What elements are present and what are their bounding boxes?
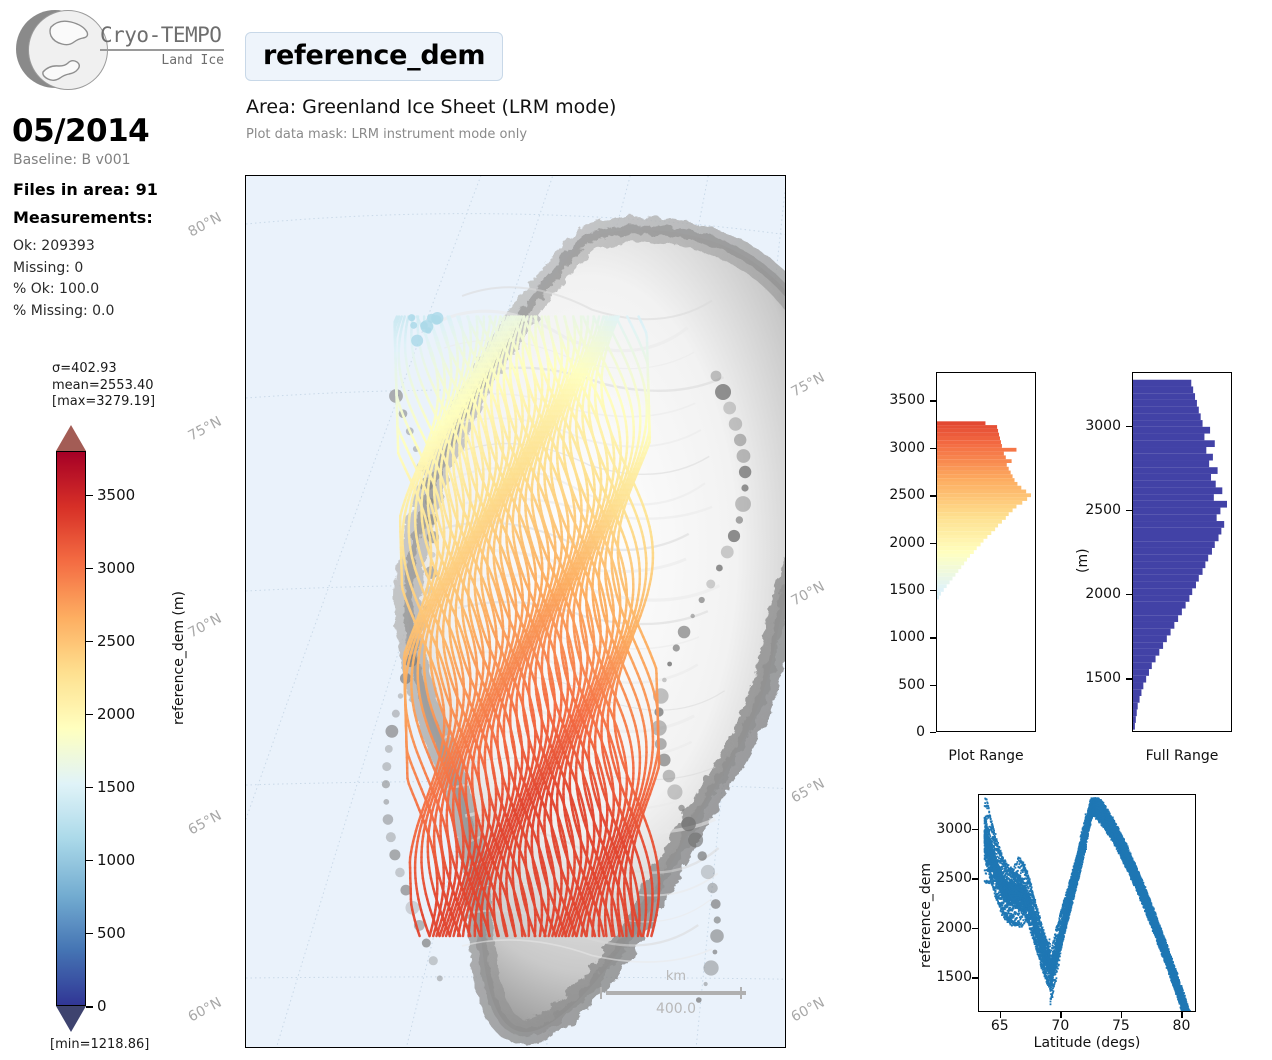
colorbar-tick-label: 0 xyxy=(97,997,107,1015)
measurement-pct-ok: % Ok: 100.0 xyxy=(13,279,114,301)
globe-icon xyxy=(14,8,98,92)
measurements-list: Ok: 209393 Missing: 0 % Ok: 100.0 % Miss… xyxy=(13,236,114,322)
scatter-ylabel: reference_dem xyxy=(918,863,934,968)
map-lat-label: 65°N xyxy=(789,776,828,807)
colorbar-min: [min=1218.86] xyxy=(50,1037,149,1052)
axis-tick xyxy=(930,732,936,733)
measurement-missing: Missing: 0 xyxy=(13,258,114,280)
logo-subtitle: Land Ice xyxy=(100,53,224,68)
colorbar-tick xyxy=(86,1006,93,1008)
variable-badge[interactable]: reference_dem xyxy=(245,32,503,81)
map-lat-label: 80°N xyxy=(186,210,225,241)
axis-tick-label: 65 xyxy=(975,1018,1025,1034)
axis-tick xyxy=(1060,1012,1061,1018)
colorbar-tick xyxy=(86,568,93,570)
colorbar-gradient xyxy=(56,451,86,1006)
map-lat-label: 70°N xyxy=(789,579,828,610)
map-lat-label: 75°N xyxy=(186,414,225,445)
latitude-scatter-plot xyxy=(978,794,1196,1012)
axis-tick-label: 2000 xyxy=(930,920,972,936)
colorbar-tick-label: 2500 xyxy=(97,632,135,650)
full-range-histogram xyxy=(1132,372,1232,732)
colorbar-tick-label: 3000 xyxy=(97,559,135,577)
colorbar-axis-label: reference_dem (m) xyxy=(171,591,187,725)
map-ground-tracks xyxy=(246,176,786,1048)
colorbar-max: [max=3279.19] xyxy=(52,394,155,411)
axis-tick-label: 3000 xyxy=(930,821,972,837)
date-label: 05/2014 xyxy=(12,113,149,149)
colorbar-tick-label: 3500 xyxy=(97,486,135,504)
colorbar-tick xyxy=(86,495,93,497)
area-title: Area: Greenland Ice Sheet (LRM mode) xyxy=(246,96,616,118)
logo-divider xyxy=(100,49,224,51)
scalebar-line xyxy=(606,991,746,995)
colorbar-stats: σ=402.93 mean=2553.40 [max=3279.19] xyxy=(52,361,155,411)
scatter-xlabel: Latitude (degs) xyxy=(987,1035,1187,1051)
map-panel[interactable]: km 400.0 xyxy=(245,175,786,1048)
axis-tick xyxy=(1181,1012,1182,1018)
axis-tick-label: 2500 xyxy=(930,870,972,886)
axis-tick-label: 75 xyxy=(1096,1018,1146,1034)
colorbar-tick xyxy=(86,933,93,935)
scalebar-unit: km xyxy=(601,969,751,984)
colorbar-tick xyxy=(86,787,93,789)
files-in-area-label: Files in area: 91 xyxy=(13,180,158,199)
brand-logo: Cryo-TEMPO Land Ice xyxy=(14,8,229,94)
colorbar: 3500300025002000150010005000 reference_d… xyxy=(56,425,196,1040)
colorbar-tick xyxy=(86,860,93,862)
axis-tick-label: 1500 xyxy=(930,969,972,985)
axis-tick-label: 80 xyxy=(1156,1018,1206,1034)
full-range-caption: Full Range xyxy=(1082,748,1272,764)
measurement-ok: Ok: 209393 xyxy=(13,236,114,258)
colorbar-tick xyxy=(86,714,93,716)
axis-tick xyxy=(1121,1012,1122,1018)
axis-tick-label: 70 xyxy=(1035,1018,1085,1034)
colorbar-tick-label: 500 xyxy=(97,924,126,942)
map-scalebar: km 400.0 xyxy=(601,991,751,995)
map-lat-label: 75°N xyxy=(789,370,828,401)
colorbar-mean: mean=2553.40 xyxy=(52,378,155,395)
measurement-pct-missing: % Missing: 0.0 xyxy=(13,301,114,323)
colorbar-tick-label: 1000 xyxy=(97,851,135,869)
plot-range-caption: Plot Range xyxy=(886,748,1086,764)
colorbar-tick-label: 2000 xyxy=(97,705,135,723)
colorbar-sigma: σ=402.93 xyxy=(52,361,155,378)
full-range-ylabel: (m) xyxy=(1075,548,1091,573)
mask-note: Plot data mask: LRM instrument mode only xyxy=(246,127,527,142)
colorbar-tick-label: 1500 xyxy=(97,778,135,796)
colorbar-tick xyxy=(86,641,93,643)
axis-tick xyxy=(1000,1012,1001,1018)
logo-title: Cryo-TEMPO xyxy=(100,24,230,46)
plot-range-histogram xyxy=(936,372,1036,732)
colorbar-over-arrow xyxy=(56,425,86,451)
measurements-heading: Measurements: xyxy=(13,208,153,227)
colorbar-under-arrow xyxy=(56,1006,86,1032)
baseline-label: Baseline: B v001 xyxy=(13,152,131,168)
scalebar-value: 400.0 xyxy=(601,1001,751,1017)
map-lat-label: 60°N xyxy=(789,995,828,1026)
